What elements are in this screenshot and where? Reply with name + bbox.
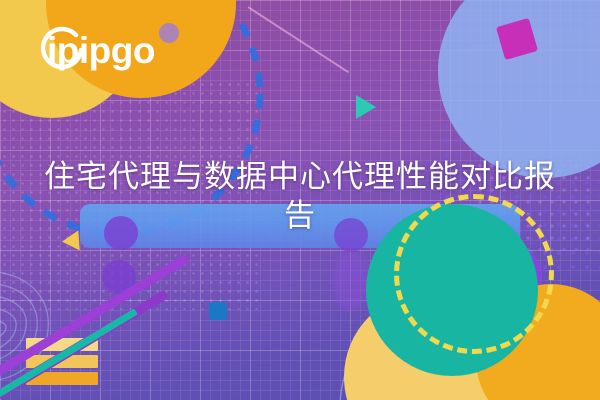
page-title: 住宅代理与数据中心代理性能对比报告 bbox=[40, 158, 560, 236]
teal-triangle-shape bbox=[356, 95, 376, 119]
purple-bead-icon bbox=[159, 23, 179, 43]
blue-square-shape bbox=[209, 302, 227, 320]
brand-logo[interactable]: ipipgo bbox=[36, 24, 155, 76]
poster-banner: ipipgo 住宅代理与数据中心代理性能对比报告 bbox=[0, 0, 600, 400]
brand-logo-text: ipipgo bbox=[47, 32, 155, 69]
purple-blur-shape bbox=[334, 252, 368, 310]
